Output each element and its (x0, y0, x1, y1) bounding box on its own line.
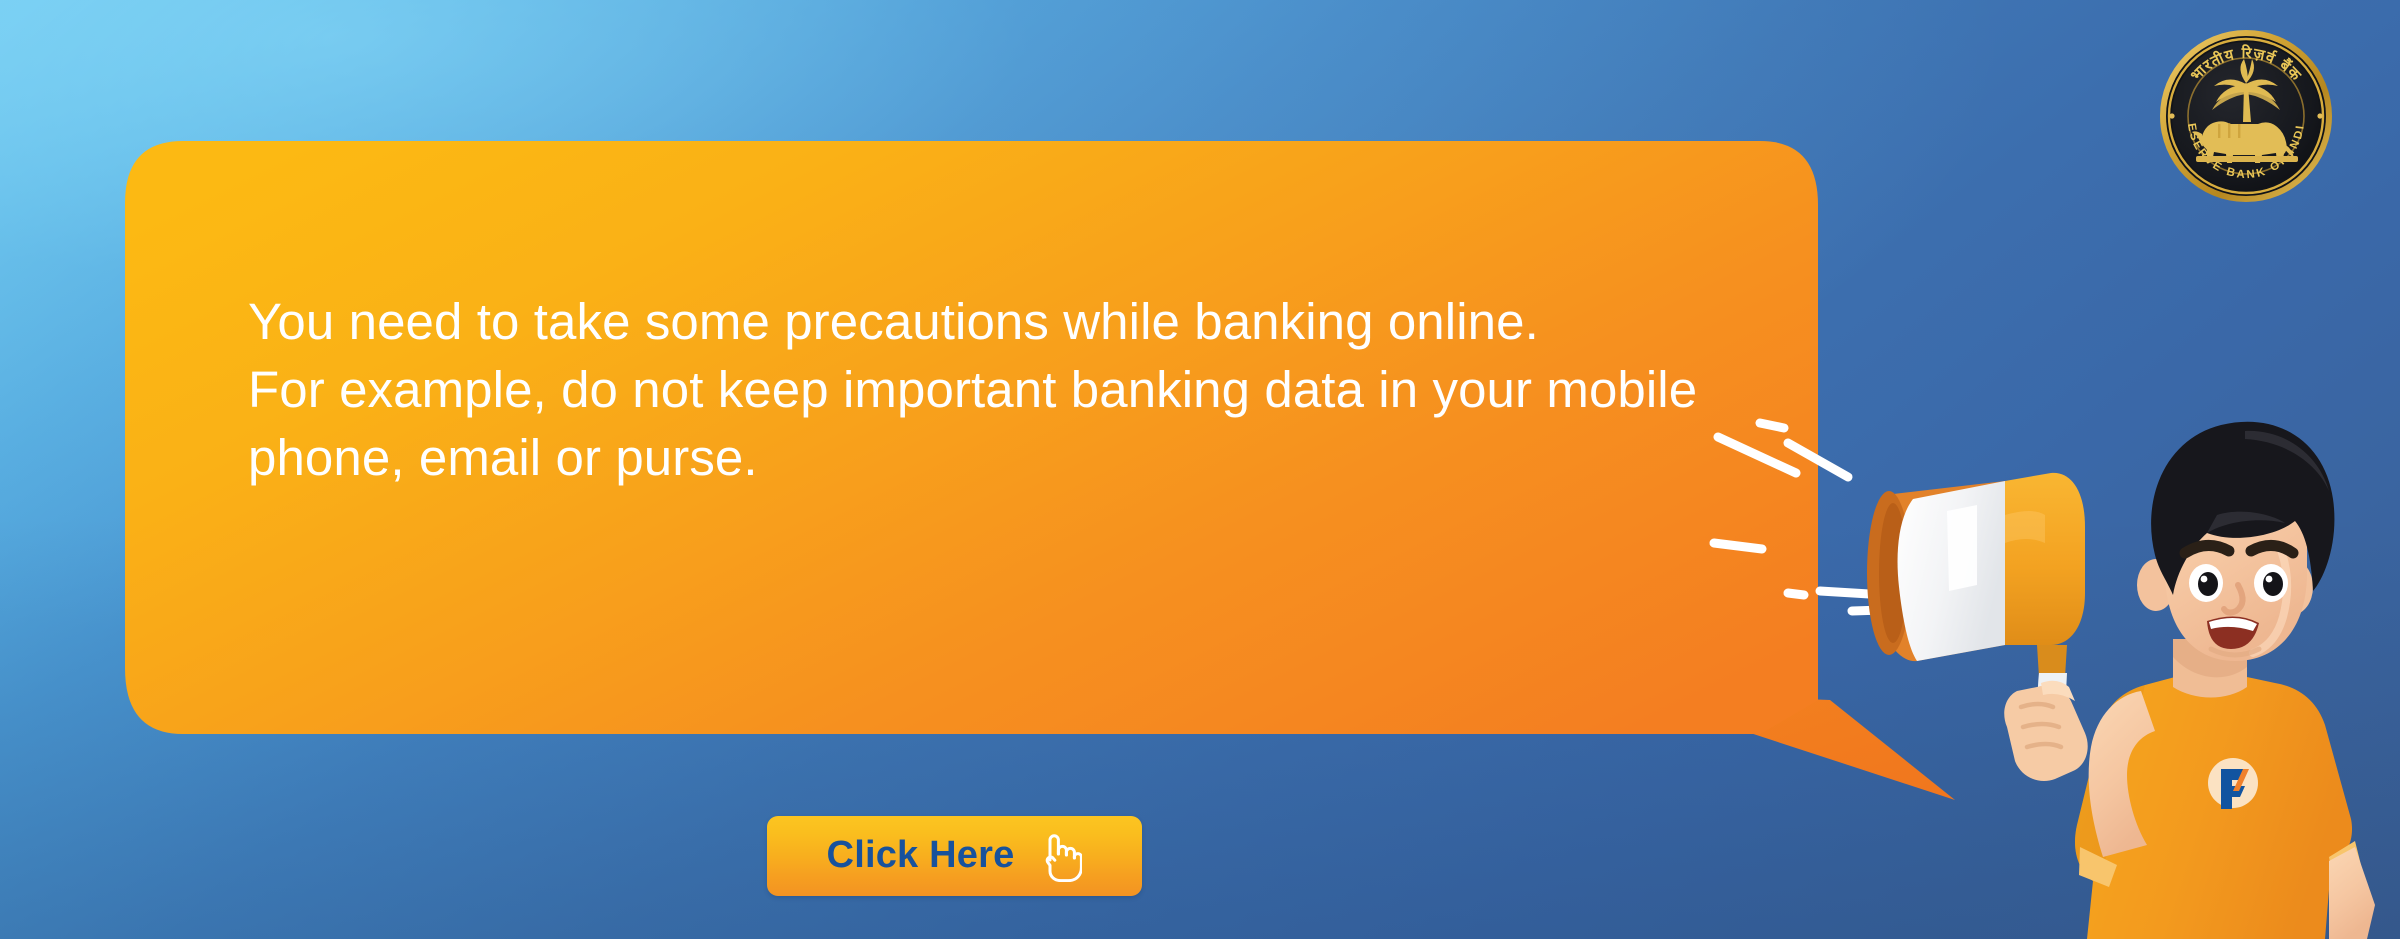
bubble-message: You need to take some precautions while … (248, 288, 1768, 491)
promo-banner: You need to take some precautions while … (0, 0, 2400, 939)
boy-with-megaphone-illustration (1855, 395, 2400, 939)
click-here-button[interactable]: Click Here (767, 816, 1142, 896)
click-here-label: Click Here (827, 836, 1015, 874)
rbi-logo: भारतीय रिज़र्व बैंक RESERVE BANK OF INDI… (2158, 28, 2334, 204)
pointing-hand-icon (1036, 830, 1082, 882)
